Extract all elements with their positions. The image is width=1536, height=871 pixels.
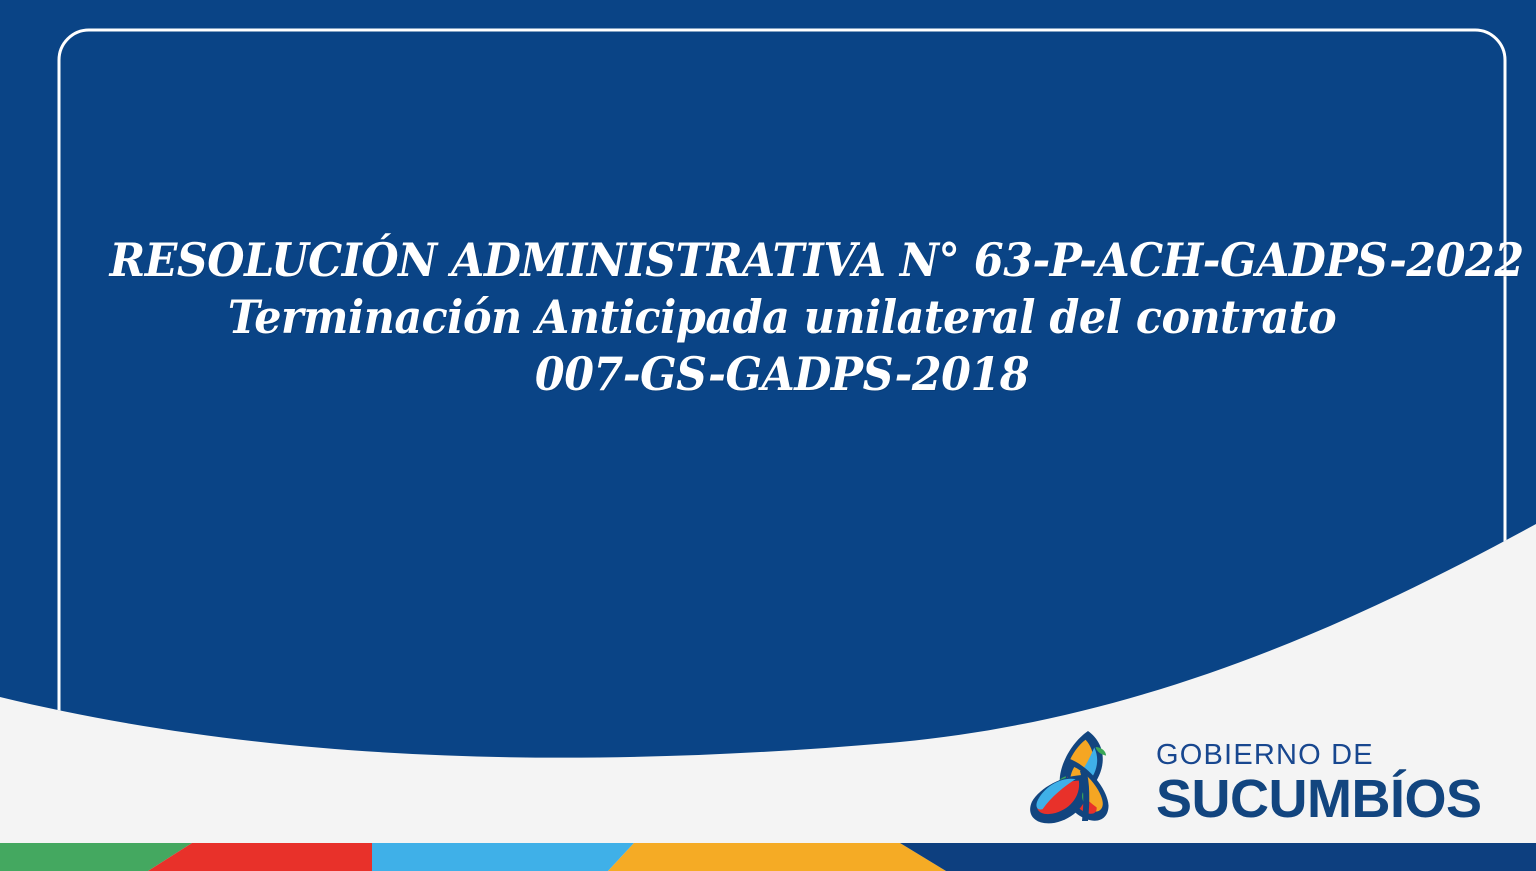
bottom-color-stripe (0, 843, 1536, 871)
gobierno-de-sucumbios-logo: GOBIERNO DE SUCUMBÍOS (1030, 722, 1510, 840)
stripe-segment-dark-blue (900, 843, 1536, 871)
presentation-slide: RESOLUCIÓN ADMINISTRATIVA N° 63-P-ACH-GA… (0, 0, 1536, 871)
logo-line-gobierno-de: GOBIERNO DE (1156, 739, 1482, 771)
logo-line-sucumbios: SUCUMBÍOS (1156, 771, 1482, 827)
logo-wordmark: GOBIERNO DE SUCUMBÍOS (1156, 735, 1482, 827)
stripe-segment-light-blue (372, 843, 634, 871)
stripe-segment-orange (608, 843, 946, 871)
sucumbios-leaves-emblem-icon (1030, 725, 1142, 837)
